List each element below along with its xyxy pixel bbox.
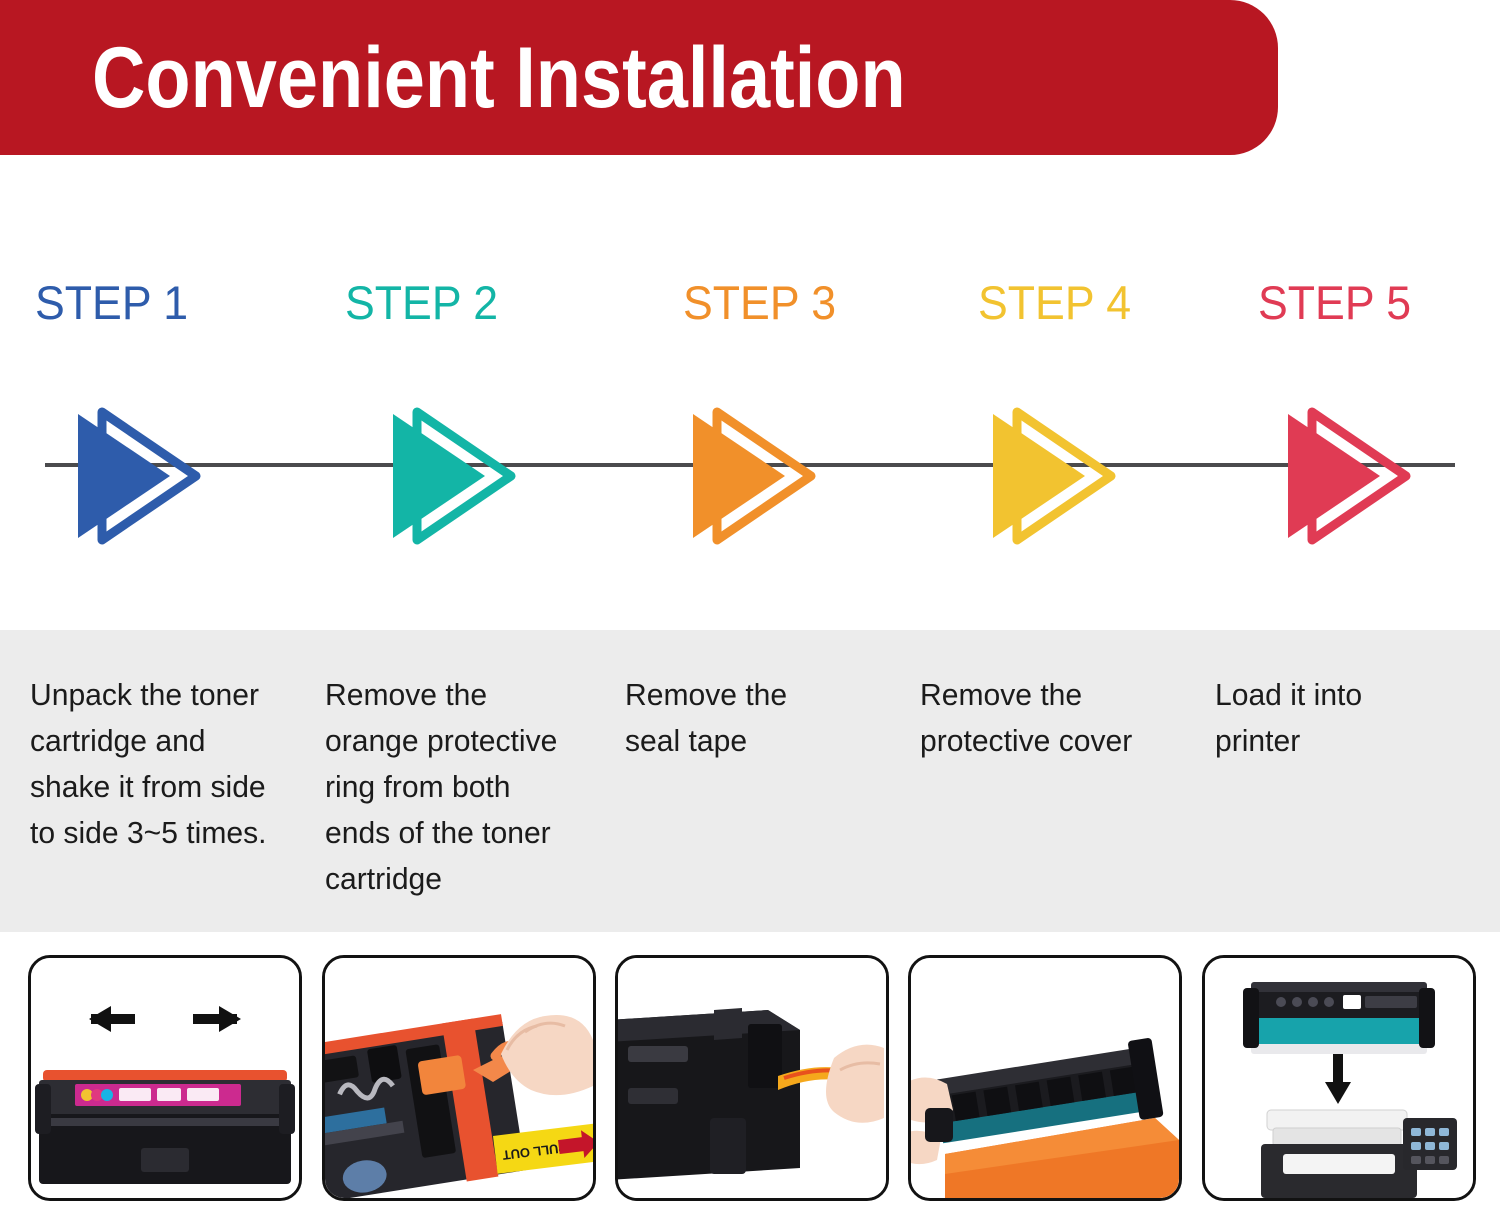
step-marker-5 — [1270, 402, 1420, 550]
step-marker-3 — [675, 402, 825, 550]
step-marker-4 — [975, 402, 1125, 550]
step-marker-2 — [375, 402, 525, 550]
arrow-right-icon — [975, 402, 1125, 550]
step-marker-1 — [60, 402, 210, 550]
pull-orange-ring-photo: PULL OUT — [322, 955, 596, 1201]
load-into-printer-photo — [1202, 955, 1476, 1201]
step-label-1: STEP 1 — [35, 272, 188, 334]
step-description-5: Load it into printer — [1215, 672, 1424, 764]
step-description-2: Remove the orange protective ring from b… — [325, 672, 577, 902]
description-band: Unpack the toner cartridge and shake it … — [0, 630, 1500, 932]
step-description-1: Unpack the toner cartridge and shake it … — [30, 672, 273, 856]
photo-row: PULL OUT — [0, 955, 1500, 1203]
step-label-3: STEP 3 — [683, 272, 836, 334]
arrow-right-icon — [60, 402, 210, 550]
header-banner: Convenient Installation — [0, 0, 1278, 155]
arrow-right-icon — [375, 402, 525, 550]
arrow-right-icon — [675, 402, 825, 550]
pull-seal-tape-photo — [615, 955, 889, 1201]
step-label-4: STEP 4 — [978, 272, 1131, 334]
step-description-3: Remove the seal tape — [625, 672, 834, 764]
step-label-5: STEP 5 — [1258, 272, 1411, 334]
page-title: Convenient Installation — [92, 18, 906, 138]
step-timeline — [0, 390, 1500, 560]
step-description-4: Remove the protective cover — [920, 672, 1138, 764]
shake-cartridge-photo — [28, 955, 302, 1201]
step-label-row: STEP 1 STEP 2 STEP 3 STEP 4 STEP 5 — [0, 272, 1500, 342]
remove-protective-cover-photo — [908, 955, 1182, 1201]
arrow-right-icon — [1270, 402, 1420, 550]
step-label-2: STEP 2 — [345, 272, 498, 334]
